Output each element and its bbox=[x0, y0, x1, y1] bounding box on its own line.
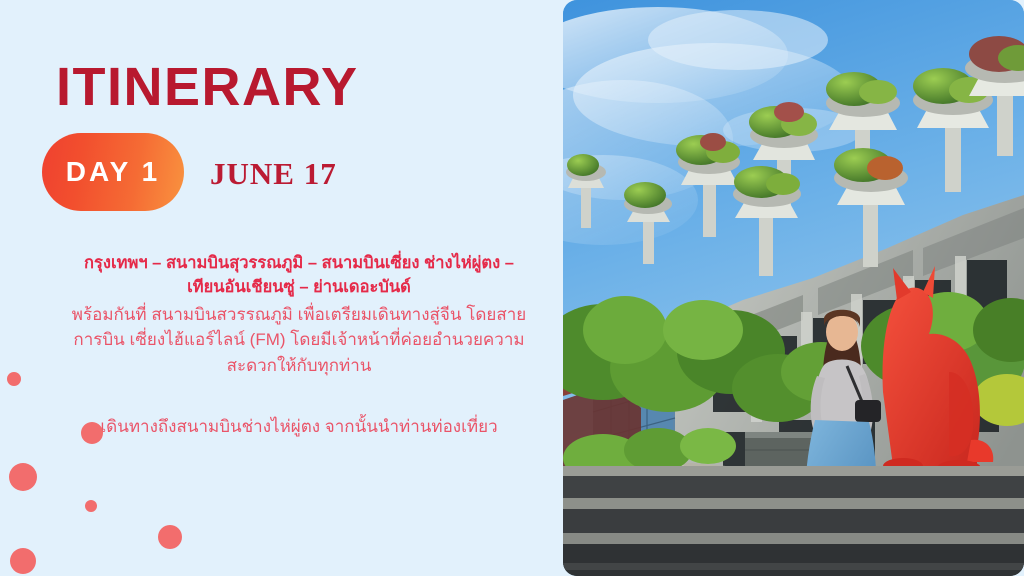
day-badge-label: DAY 1 bbox=[66, 156, 160, 188]
decorative-dot bbox=[9, 463, 37, 491]
left-content-panel: ITINERARY DAY 1 JUNE 17 กรุงเทพฯ – สนามบ… bbox=[0, 0, 562, 576]
destination-photo bbox=[563, 0, 1024, 576]
date-label: JUNE 17 bbox=[210, 156, 337, 192]
stone-stairs bbox=[563, 466, 1024, 576]
itinerary-paragraph-1: พร้อมกันที่ สนามบินสวรรณภูมิ เพื่อเตรียม… bbox=[60, 302, 538, 379]
destination-photo-image bbox=[563, 0, 1024, 576]
decorative-dot bbox=[10, 548, 36, 574]
page-title: ITINERARY bbox=[56, 60, 359, 114]
decorative-dot bbox=[85, 500, 97, 512]
itinerary-text-block: กรุงเทพฯ – สนามบินสุวรรณภูมิ – สนามบินเซ… bbox=[60, 252, 538, 440]
decorative-dot bbox=[158, 525, 182, 549]
itinerary-slide: ITINERARY DAY 1 JUNE 17 กรุงเทพฯ – สนามบ… bbox=[0, 0, 1024, 576]
day-badge: DAY 1 bbox=[42, 133, 184, 211]
decorative-dot bbox=[81, 422, 103, 444]
route-line-2: เทียนอันเชียนซู่ – ย่านเดอะบันด์ bbox=[60, 276, 538, 300]
itinerary-paragraph-2: เดินทางถึงสนามบินช่างไห่ผู่ตง จากนั้นนำท… bbox=[60, 414, 538, 440]
decorative-dot bbox=[7, 372, 21, 386]
route-line-1: กรุงเทพฯ – สนามบินสุวรรณภูมิ – สนามบินเซ… bbox=[60, 252, 538, 276]
